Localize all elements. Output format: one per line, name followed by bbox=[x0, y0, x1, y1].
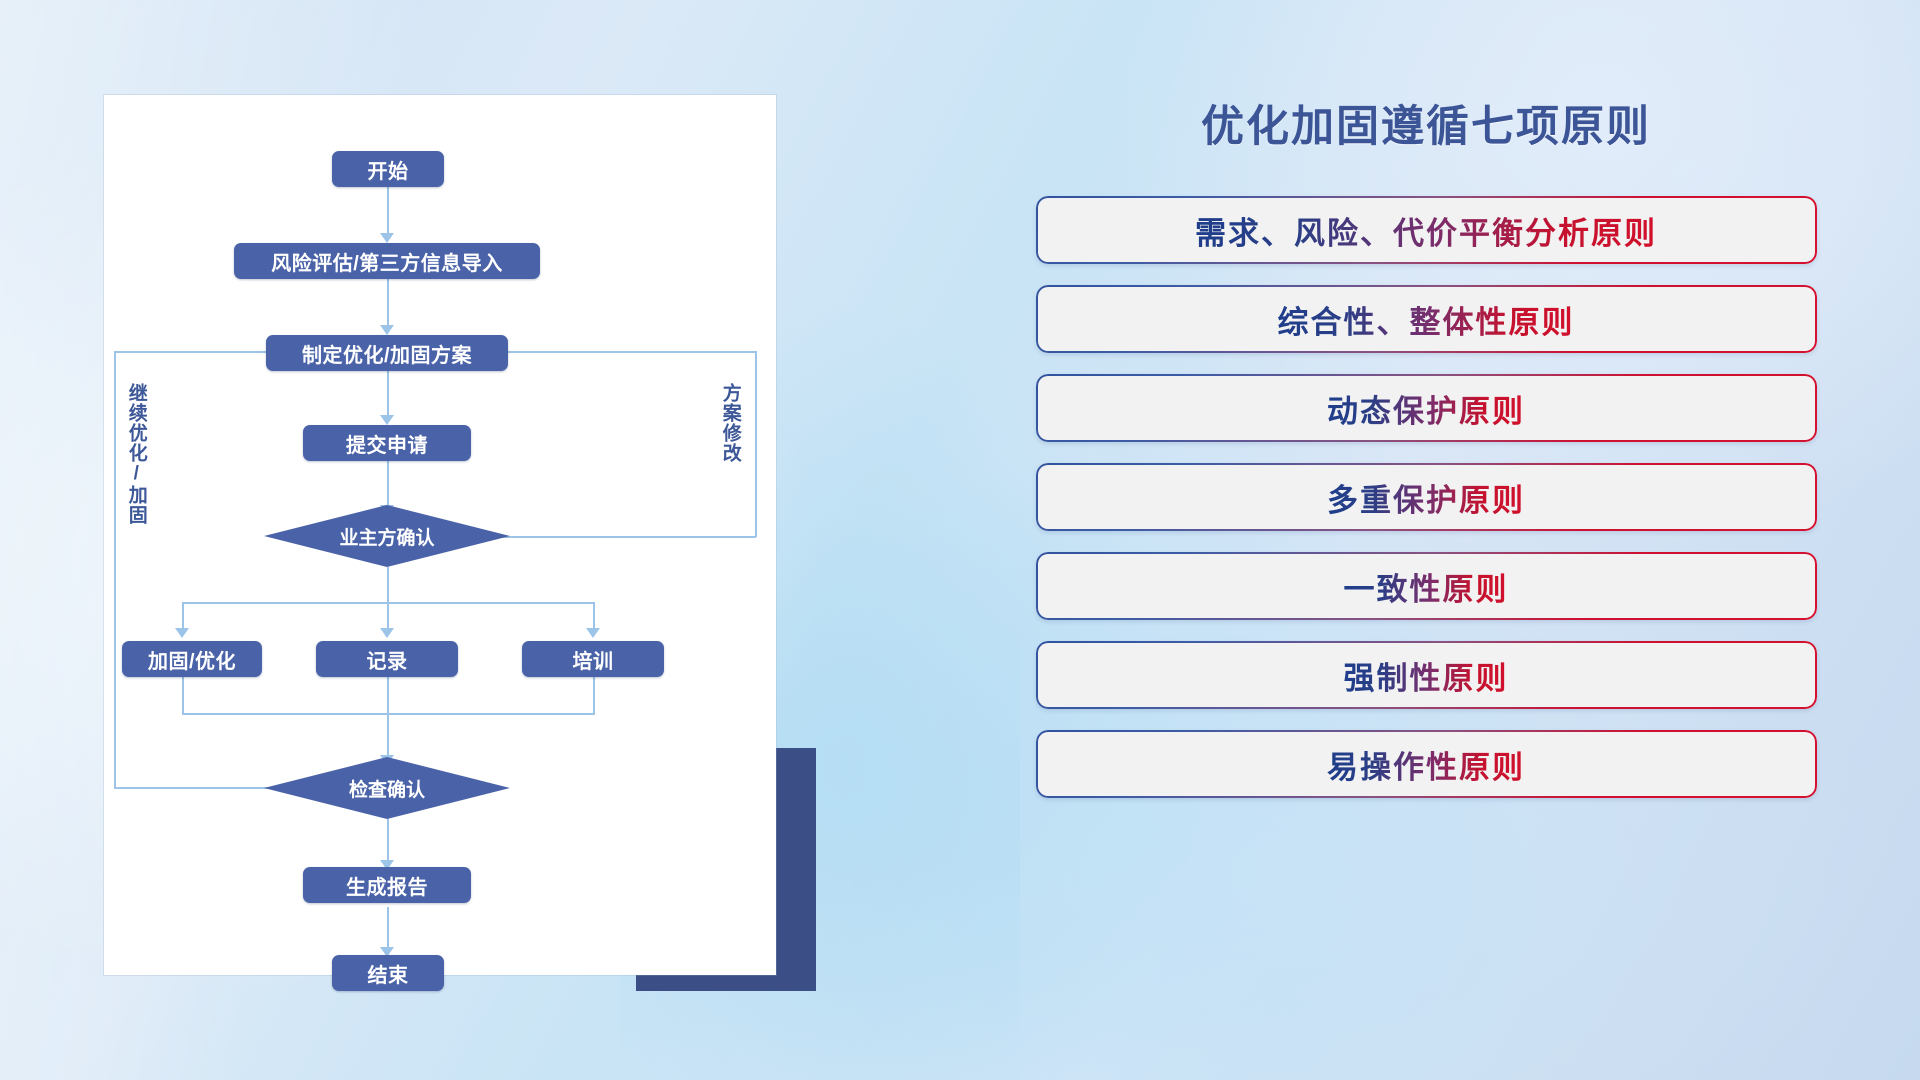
principle-card-4-label: 多重保护原则 bbox=[1327, 475, 1525, 520]
flow-edge-label-continue-optimize: 继续优化/加固 bbox=[126, 383, 146, 525]
flow-node-start-label: 开始 bbox=[368, 155, 409, 184]
flowchart-canvas: 开始 风险评估/第三方信息导入 制定优化/加固方案 提交申请 业主方确认 加固/… bbox=[104, 95, 776, 975]
principle-card-1-label: 需求、风险、代价平衡分析原则 bbox=[1195, 208, 1657, 253]
principles-title: 优化加固遵循七项原则 bbox=[1020, 92, 1832, 154]
flow-node-check-confirm-label: 检查确认 bbox=[349, 775, 425, 802]
connector-reinforce-down bbox=[182, 677, 184, 715]
connector-record-to-check bbox=[387, 677, 389, 762]
principle-card-7-label: 易操作性原则 bbox=[1327, 742, 1525, 787]
connector-right-loop-vertical bbox=[755, 351, 757, 537]
principle-card-6[interactable]: 强制性原则 bbox=[1036, 641, 1817, 709]
arrowhead-risk-to-plan bbox=[380, 325, 394, 335]
connector-risk-to-plan bbox=[387, 278, 389, 331]
flow-node-report-label: 生成报告 bbox=[346, 871, 428, 900]
principle-card-2-label: 综合性、整体性原则 bbox=[1278, 297, 1575, 342]
arrowhead-plan-to-submit bbox=[380, 415, 394, 425]
principle-card-7[interactable]: 易操作性原则 bbox=[1036, 730, 1817, 798]
flow-node-record[interactable]: 记录 bbox=[316, 641, 458, 677]
arrowhead-start-to-risk bbox=[380, 233, 394, 243]
principle-card-3[interactable]: 动态保护原则 bbox=[1036, 374, 1817, 442]
arrowhead-bus-to-train bbox=[586, 628, 600, 638]
flow-node-end[interactable]: 结束 bbox=[332, 955, 444, 991]
flow-node-check-confirm[interactable]: 检查确认 bbox=[264, 757, 510, 819]
arrowhead-bus-to-reinforce bbox=[175, 628, 189, 638]
principle-card-4[interactable]: 多重保护原则 bbox=[1036, 463, 1817, 531]
principle-card-5-label: 一致性原则 bbox=[1344, 564, 1509, 609]
connector-train-down bbox=[593, 677, 595, 715]
flow-node-submit[interactable]: 提交申请 bbox=[303, 425, 471, 461]
principle-card-1[interactable]: 需求、风险、代价平衡分析原则 bbox=[1036, 196, 1817, 264]
connector-start-to-risk bbox=[387, 185, 389, 239]
flow-node-training-label: 培训 bbox=[573, 645, 614, 674]
principle-card-3-label: 动态保护原则 bbox=[1327, 386, 1525, 431]
flow-edge-label-plan-revise: 方案修改 bbox=[720, 383, 740, 463]
flow-node-report[interactable]: 生成报告 bbox=[303, 867, 471, 903]
flow-node-training[interactable]: 培训 bbox=[522, 641, 664, 677]
flow-node-submit-label: 提交申请 bbox=[346, 429, 428, 458]
principle-card-5[interactable]: 一致性原则 bbox=[1036, 552, 1817, 620]
principle-card-2[interactable]: 综合性、整体性原则 bbox=[1036, 285, 1817, 353]
connector-left-loop-vertical bbox=[114, 351, 116, 788]
flow-node-reinforce-label: 加固/优化 bbox=[148, 645, 236, 674]
principles-section: 优化加固遵循七项原则 需求、风险、代价平衡分析原则 综合性、整体性原则 动态保护… bbox=[1020, 92, 1832, 992]
flow-node-owner-confirm[interactable]: 业主方确认 bbox=[264, 505, 510, 567]
flow-node-plan-label: 制定优化/加固方案 bbox=[302, 339, 472, 368]
flow-node-owner-confirm-label: 业主方确认 bbox=[339, 523, 434, 550]
principle-card-6-label: 强制性原则 bbox=[1344, 653, 1509, 698]
flow-node-risk-assessment-label: 风险评估/第三方信息导入 bbox=[271, 247, 503, 276]
flow-node-record-label: 记录 bbox=[367, 645, 408, 674]
flow-node-risk-assessment[interactable]: 风险评估/第三方信息导入 bbox=[234, 243, 540, 279]
flow-node-plan[interactable]: 制定优化/加固方案 bbox=[266, 335, 508, 371]
flow-node-reinforce[interactable]: 加固/优化 bbox=[122, 641, 262, 677]
flow-node-end-label: 结束 bbox=[368, 959, 409, 988]
arrowhead-bus-to-record bbox=[380, 628, 394, 638]
flowchart-panel: 开始 风险评估/第三方信息导入 制定优化/加固方案 提交申请 业主方确认 加固/… bbox=[104, 95, 776, 975]
connector-owner-to-bus bbox=[387, 567, 389, 603]
flow-node-start[interactable]: 开始 bbox=[332, 151, 444, 187]
